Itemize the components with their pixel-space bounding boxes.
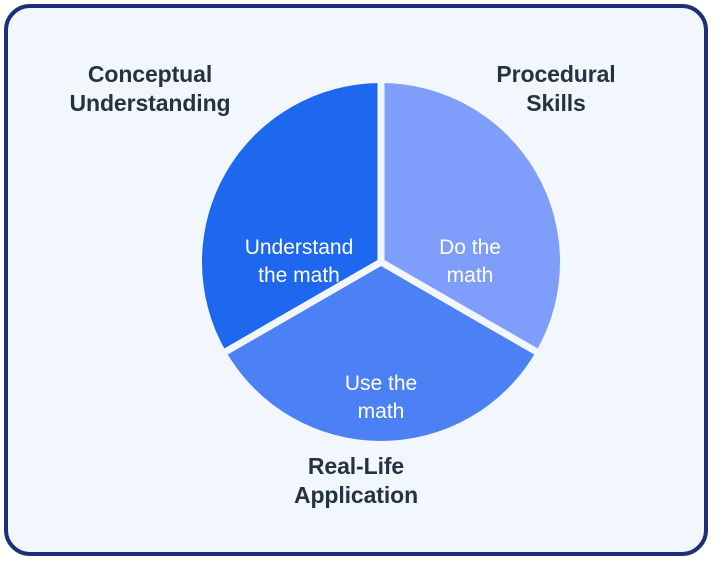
- label-real-life-application: Real-Life Application: [206, 452, 506, 510]
- pie-chart: Understand the math Do the math Use the …: [199, 80, 563, 444]
- pie-chart-svg: [199, 80, 563, 444]
- diagram-frame: Conceptual Understanding Procedural Skil…: [4, 4, 708, 556]
